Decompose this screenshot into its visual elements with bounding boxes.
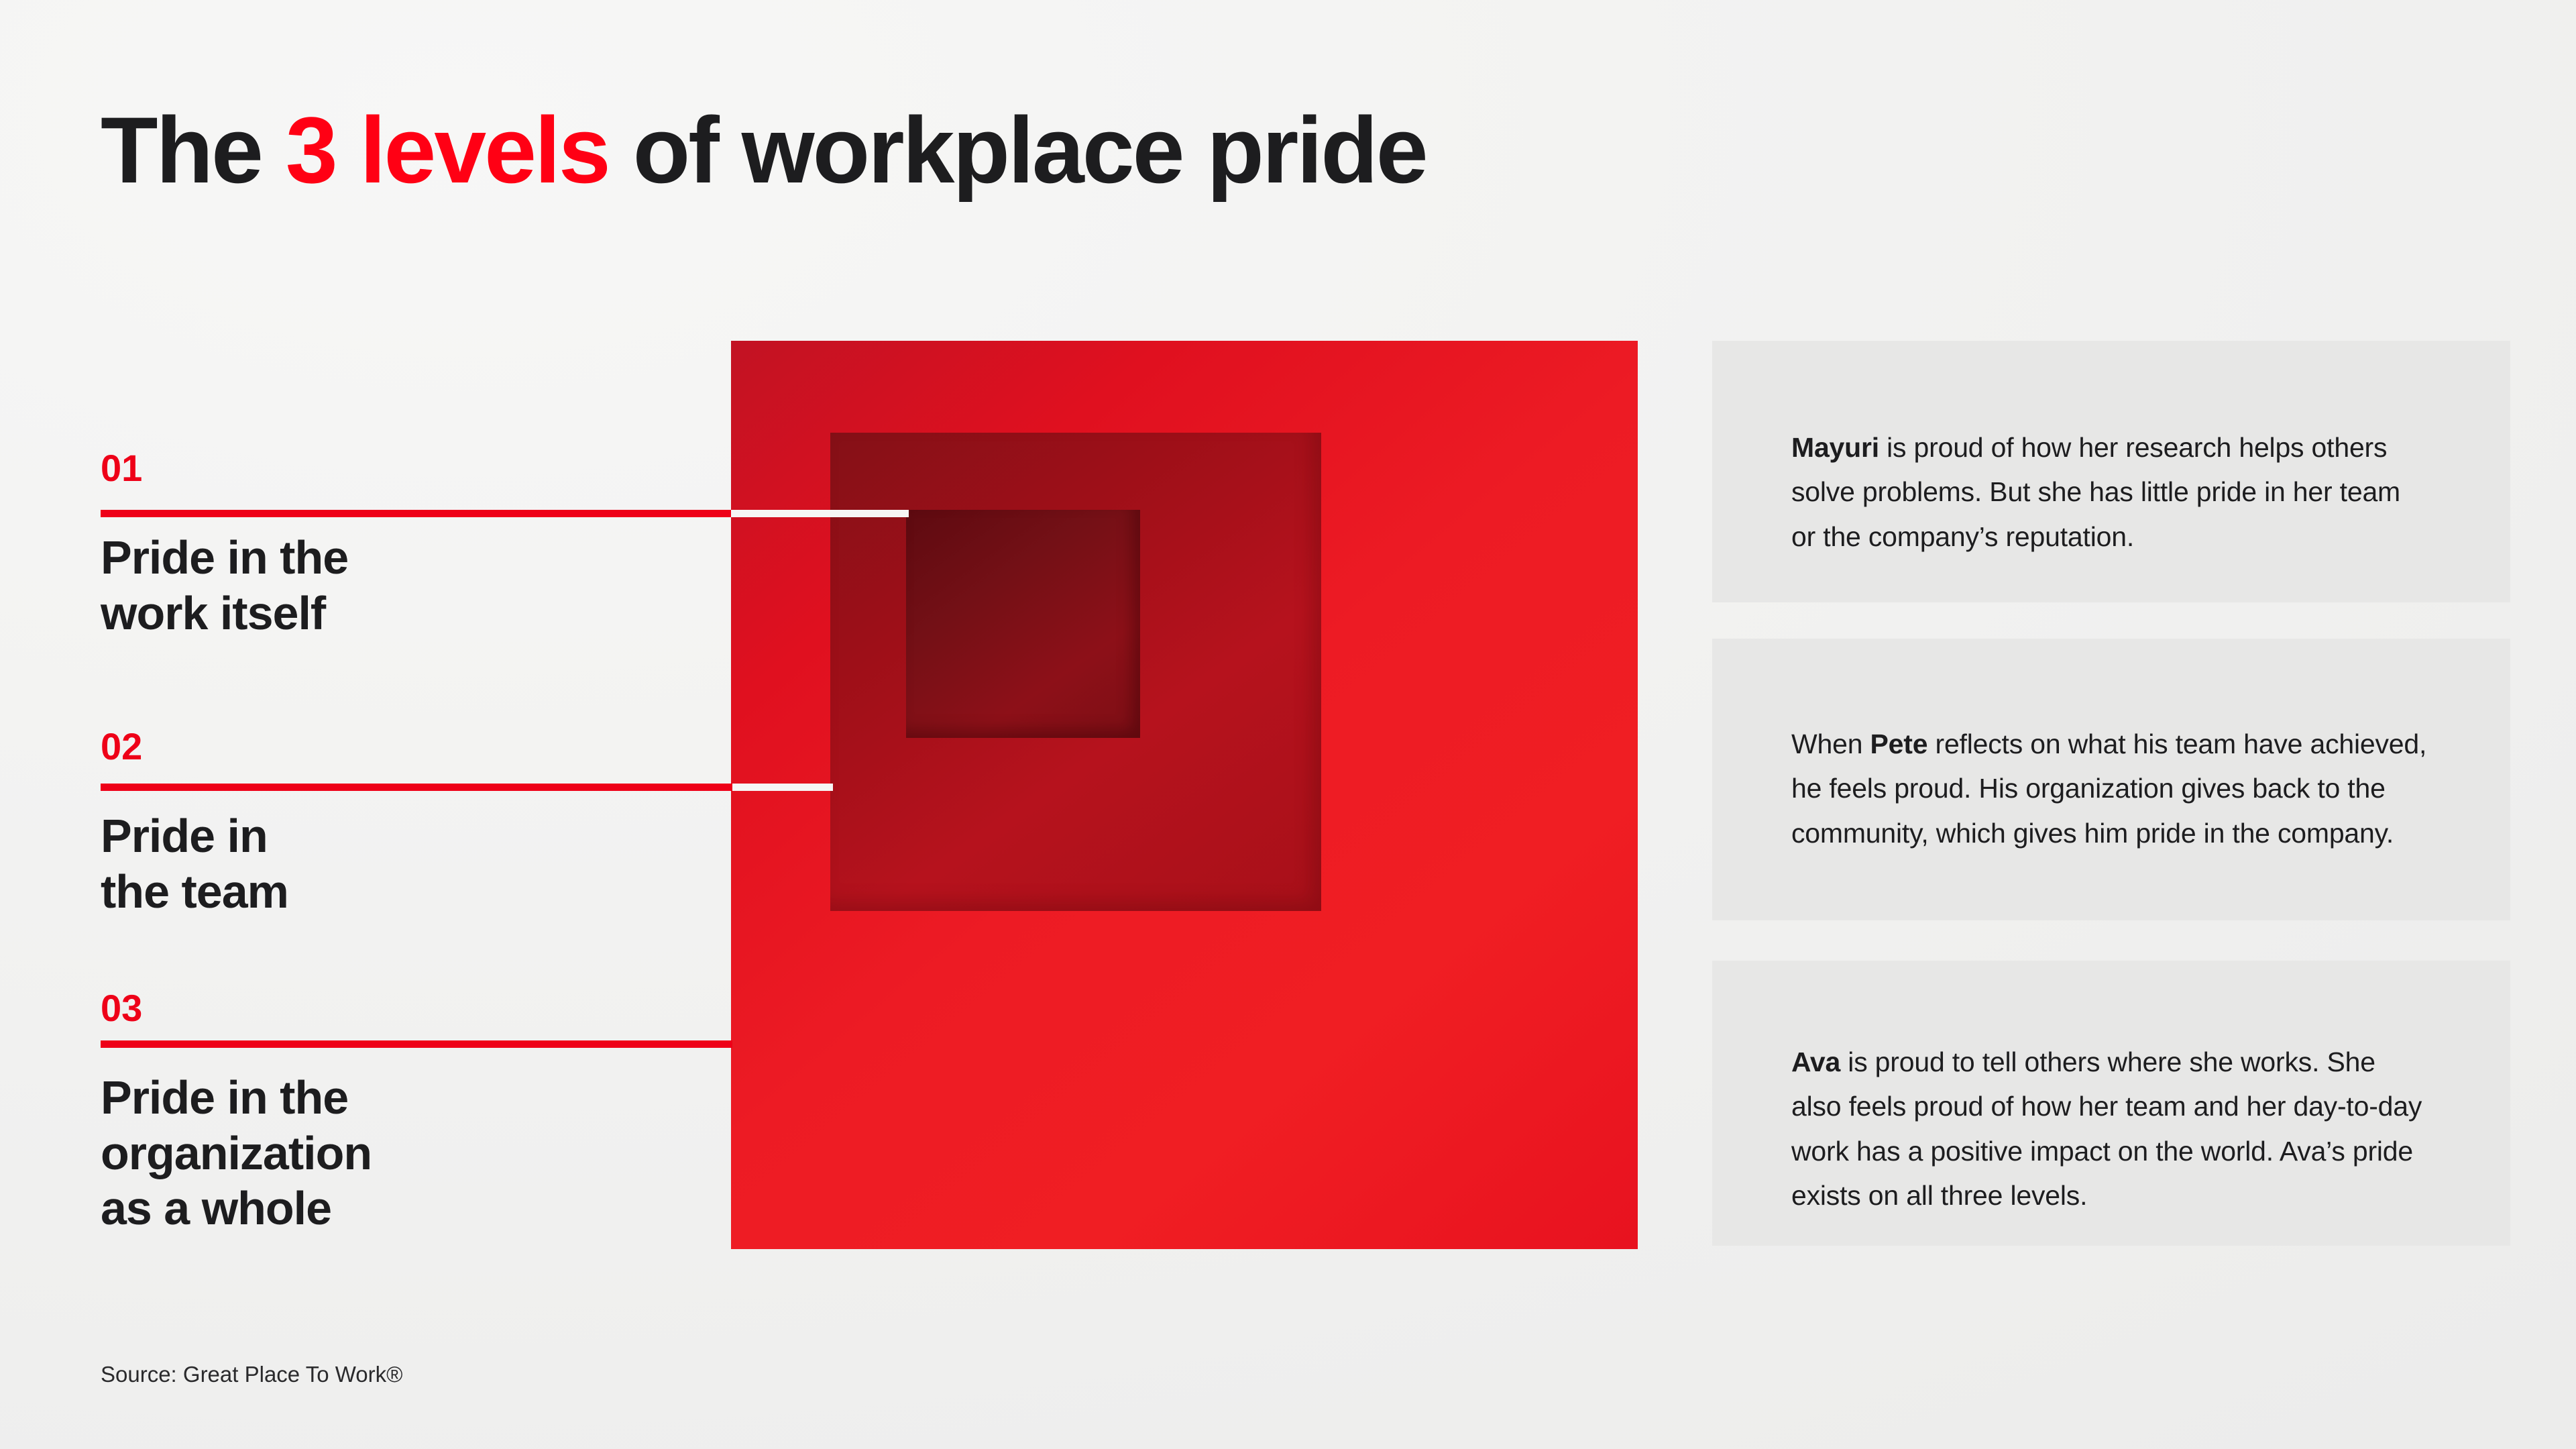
title-accent: 3 levels: [286, 97, 609, 203]
level-item-03: 03 Pride in the organization as a whole: [101, 989, 771, 1236]
story-text-ava: Ava is proud to tell others where she wo…: [1791, 1040, 2430, 1218]
level-item-01: 01 Pride in the work itself: [101, 449, 771, 641]
level-number-03: 03: [101, 989, 771, 1027]
square-layer-work-itself: [906, 510, 1140, 738]
story-name-ava: Ava: [1791, 1046, 1840, 1077]
connector-line-03: [101, 1040, 732, 1048]
level-number-01: 01: [101, 449, 771, 487]
story-text-pete: When Pete reflects on what his team have…: [1791, 722, 2430, 855]
source-attribution: Source: Great Place To Work®: [101, 1362, 402, 1387]
story-post-mayuri: is proud of how her research helps other…: [1791, 432, 2400, 552]
story-text-mayuri: Mayuri is proud of how her research help…: [1791, 425, 2430, 559]
story-card-ava: Ava is proud to tell others where she wo…: [1712, 961, 2510, 1246]
connector-line-01-inner: [731, 510, 909, 517]
story-card-pete: When Pete reflects on what his team have…: [1712, 639, 2510, 920]
story-post-ava: is proud to tell others where she works.…: [1791, 1046, 2422, 1211]
level-label-03: Pride in the organization as a whole: [101, 1070, 771, 1236]
level-number-02: 02: [101, 728, 771, 765]
story-name-mayuri: Mayuri: [1791, 432, 1879, 463]
title-lead: The: [101, 97, 286, 203]
story-name-pete: Pete: [1870, 729, 1928, 759]
title-tail: of workplace pride: [609, 97, 1426, 203]
story-card-mayuri: Mayuri is proud of how her research help…: [1712, 341, 2510, 602]
story-pre-pete: When: [1791, 729, 1870, 759]
level-label-01: Pride in the work itself: [101, 530, 771, 641]
connector-line-01: [101, 510, 909, 517]
page-title: The 3 levels of workplace pride: [101, 101, 1426, 199]
connector-line-02: [101, 784, 833, 791]
connector-line-02-inner: [732, 784, 833, 791]
infographic-canvas: The 3 levels of workplace pride 01 Pride…: [0, 0, 2576, 1449]
square-layer-team: [830, 433, 1321, 911]
level-item-02: 02 Pride in the team: [101, 728, 771, 919]
level-label-02: Pride in the team: [101, 808, 771, 919]
nested-squares-diagram: [731, 341, 1638, 1249]
